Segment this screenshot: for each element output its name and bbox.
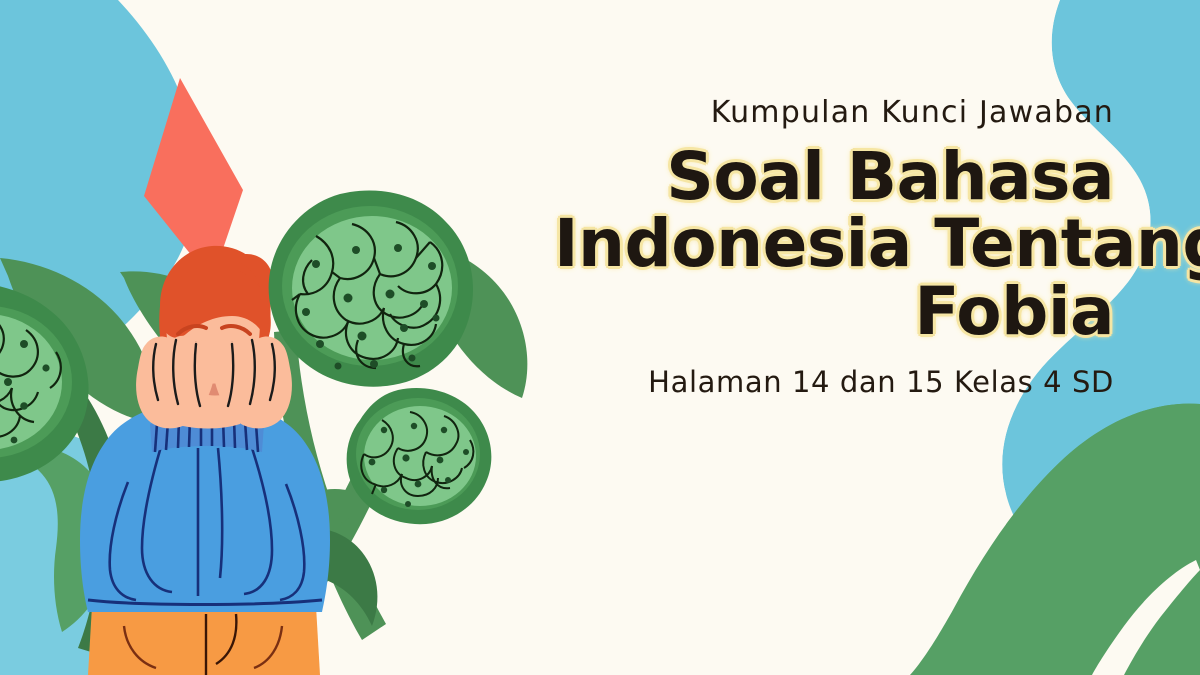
headline-line-2: Indonesia Tentang [554, 210, 1114, 277]
figure-pants [88, 606, 320, 675]
eyebrow-text: Kumpulan Kunci Jawaban [554, 96, 1114, 129]
poster-canvas: Kumpulan Kunci Jawaban Soal Bahasa Indon… [0, 0, 1200, 675]
subtitle-text: Halaman 14 dan 15 Kelas 4 SD [554, 365, 1114, 399]
title-block: Kumpulan Kunci Jawaban Soal Bahasa Indon… [554, 96, 1114, 399]
headline-line-1: Soal Bahasa [554, 143, 1114, 210]
headline-text: Soal Bahasa Indonesia Tentang Fobia [554, 143, 1114, 345]
headline-line-3: Fobia [554, 278, 1114, 345]
lotus-pod-top [269, 190, 473, 386]
